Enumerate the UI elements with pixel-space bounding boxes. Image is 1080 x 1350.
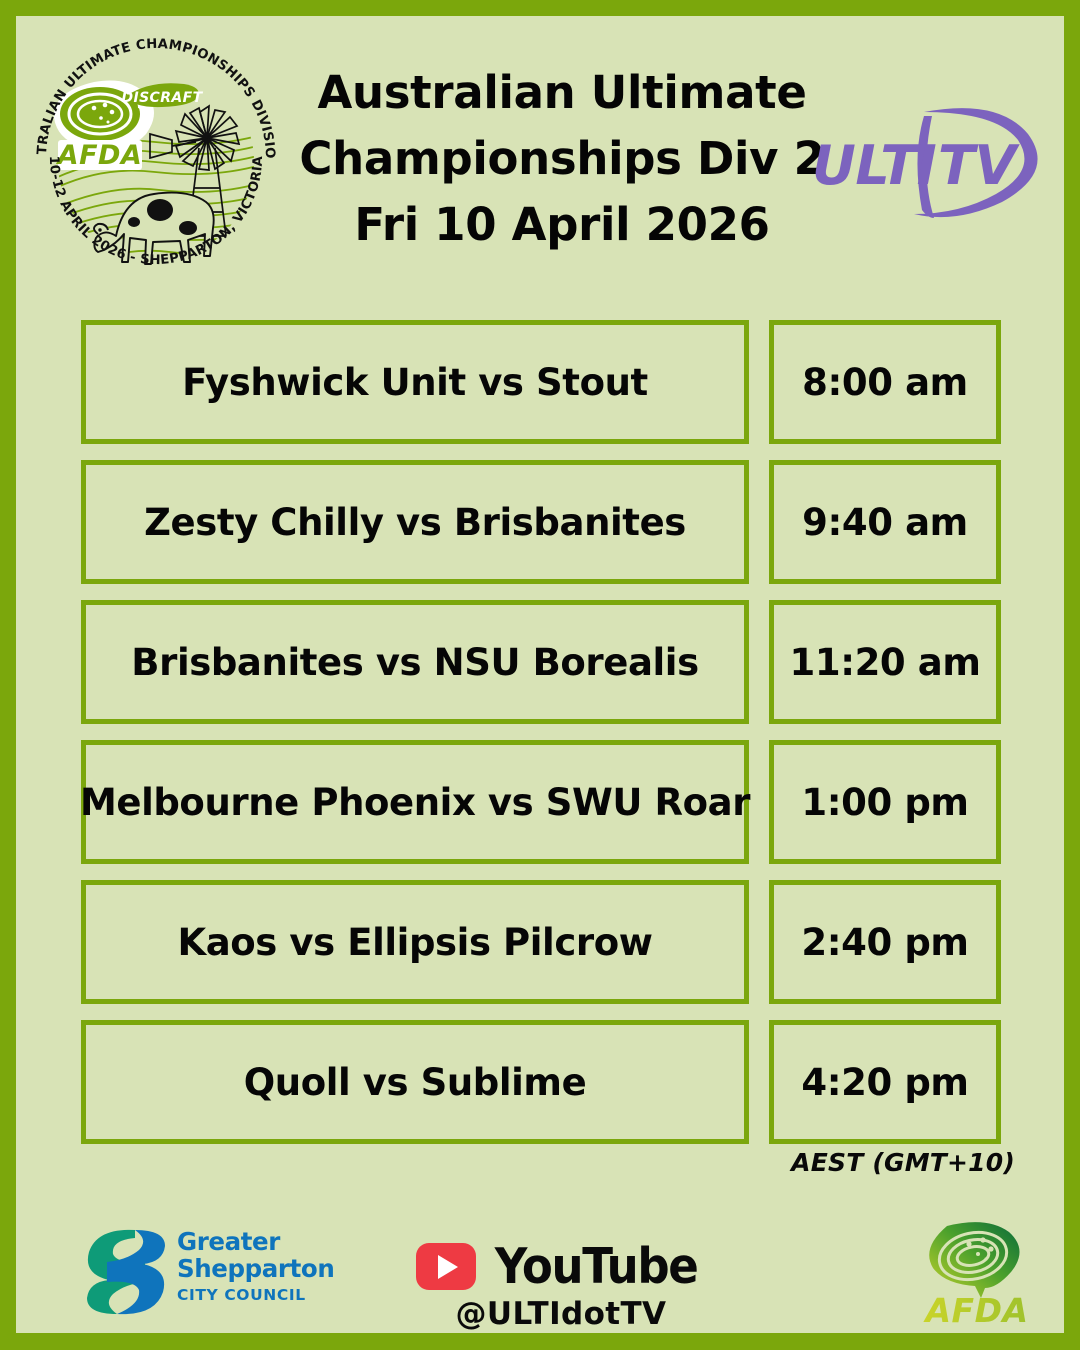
time-box[interactable]: 9:40 am: [769, 460, 1001, 584]
schedule-list: Fyshwick Unit vs Stout 8:00 am Zesty Chi…: [81, 320, 1001, 1160]
match-label: Fyshwick Unit vs Stout: [182, 361, 648, 404]
youtube-block[interactable]: YouTube @ULTIdotTV: [416, 1238, 706, 1332]
time-box[interactable]: 2:40 pm: [769, 880, 1001, 1004]
match-label: Zesty Chilly vs Brisbanites: [144, 501, 686, 544]
afda-logo: AFDA: [911, 1218, 1051, 1333]
schedule-row: Melbourne Phoenix vs SWU Roar 1:00 pm: [81, 740, 1001, 864]
row-gap: [749, 740, 769, 864]
time-label: 8:00 am: [802, 361, 968, 404]
timezone-note: AEST (GMT+10): [791, 1148, 1015, 1177]
svg-text:DISCRAFT: DISCRAFT: [121, 90, 203, 106]
match-box[interactable]: Kaos vs Ellipsis Pilcrow: [81, 880, 749, 1004]
row-gap: [749, 320, 769, 444]
header: AFDA DISCRAFT AUSTRALIAN ULTIMATE CHAMPI…: [16, 16, 1064, 316]
match-box[interactable]: Quoll vs Sublime: [81, 1020, 749, 1144]
time-label: 4:20 pm: [801, 1061, 968, 1104]
row-gap: [749, 1020, 769, 1144]
youtube-play-icon: [416, 1243, 476, 1290]
match-label: Quoll vs Sublime: [244, 1061, 587, 1104]
shepparton-line1: Greater: [177, 1227, 281, 1256]
greater-shepparton-city-council-logo[interactable]: Greater Shepparton CITY COUNCIL: [73, 1226, 363, 1316]
schedule-row: Kaos vs Ellipsis Pilcrow 2:40 pm: [81, 880, 1001, 1004]
time-label: 9:40 am: [802, 501, 968, 544]
title-line-2: Championships Div 2: [292, 126, 832, 192]
title-line-3: Fri 10 April 2026: [292, 192, 832, 258]
match-label: Brisbanites vs NSU Borealis: [131, 641, 698, 684]
shepparton-line2: Shepparton: [177, 1254, 334, 1283]
svg-text:AFDA: AFDA: [56, 140, 143, 171]
time-box[interactable]: 1:00 pm: [769, 740, 1001, 864]
poster-canvas: AFDA DISCRAFT AUSTRALIAN ULTIMATE CHAMPI…: [16, 16, 1064, 1333]
title-line-1: Australian Ultimate: [292, 60, 832, 126]
time-label: 2:40 pm: [801, 921, 968, 964]
schedule-row: Quoll vs Sublime 4:20 pm: [81, 1020, 1001, 1144]
row-gap: [749, 460, 769, 584]
time-label: 11:20 am: [790, 641, 981, 684]
time-label: 1:00 pm: [801, 781, 968, 824]
afda-wordmark: AFDA: [922, 1291, 1028, 1330]
poster-frame: AFDA DISCRAFT AUSTRALIAN ULTIMATE CHAMPI…: [0, 0, 1080, 1350]
shepparton-line3: CITY COUNCIL: [177, 1286, 306, 1304]
match-label: Melbourne Phoenix vs SWU Roar: [80, 781, 750, 824]
ultitv-part-one: ULTI: [812, 134, 936, 197]
match-box[interactable]: Zesty Chilly vs Brisbanites: [81, 460, 749, 584]
match-box[interactable]: Brisbanites vs NSU Borealis: [81, 600, 749, 724]
row-gap: [749, 880, 769, 1004]
youtube-logo[interactable]: YouTube: [416, 1238, 706, 1295]
match-box[interactable]: Melbourne Phoenix vs SWU Roar: [81, 740, 749, 864]
page-title: Australian Ultimate Championships Div 2 …: [292, 60, 832, 258]
time-box[interactable]: 8:00 am: [769, 320, 1001, 444]
footer: Greater Shepparton CITY COUNCIL YouTube …: [16, 1196, 1064, 1333]
match-box[interactable]: Fyshwick Unit vs Stout: [81, 320, 749, 444]
match-label: Kaos vs Ellipsis Pilcrow: [177, 921, 652, 964]
afda-event-stamp-icon: AFDA DISCRAFT AUSTRALIAN ULTIMATE CHAMPI…: [20, 22, 292, 294]
schedule-row: Fyshwick Unit vs Stout 8:00 am: [81, 320, 1001, 444]
schedule-row: Zesty Chilly vs Brisbanites 9:40 am: [81, 460, 1001, 584]
row-gap: [749, 600, 769, 724]
time-box[interactable]: 11:20 am: [769, 600, 1001, 724]
ultitv-logo: ULTI TV: [806, 106, 1056, 226]
youtube-wordmark: YouTube: [495, 1238, 698, 1295]
time-box[interactable]: 4:20 pm: [769, 1020, 1001, 1144]
youtube-handle[interactable]: @ULTIdotTV: [416, 1296, 706, 1332]
ultitv-part-two: TV: [938, 134, 1020, 197]
schedule-row: Brisbanites vs NSU Borealis 11:20 am: [81, 600, 1001, 724]
